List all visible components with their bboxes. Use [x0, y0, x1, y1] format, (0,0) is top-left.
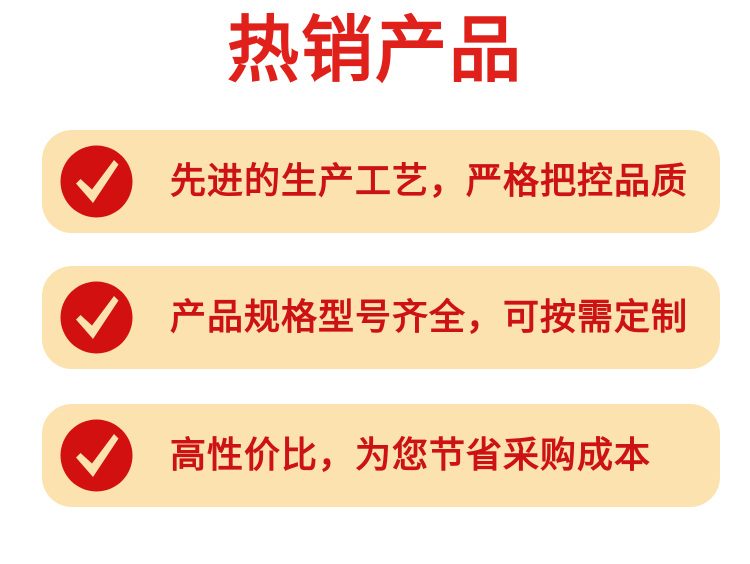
feature-text: 产品规格型号齐全，可按需定制 — [170, 266, 688, 369]
promo-banner: 热销产品 先进的生产工艺，严格把控品质 产品规格型号齐全，可按需定制 高性价比，… — [0, 0, 750, 564]
page-title-wrap: 热销产品 — [0, 14, 750, 86]
check-circle-icon — [60, 281, 133, 354]
feature-row: 高性价比，为您节省采购成本 — [42, 404, 720, 507]
check-circle-icon — [60, 145, 133, 218]
feature-text: 高性价比，为您节省采购成本 — [170, 404, 651, 507]
feature-text: 先进的生产工艺，严格把控品质 — [170, 130, 688, 233]
page-title: 热销产品 — [227, 14, 523, 86]
feature-row: 产品规格型号齐全，可按需定制 — [42, 266, 720, 369]
check-circle-icon — [60, 419, 133, 492]
feature-row: 先进的生产工艺，严格把控品质 — [42, 130, 720, 233]
